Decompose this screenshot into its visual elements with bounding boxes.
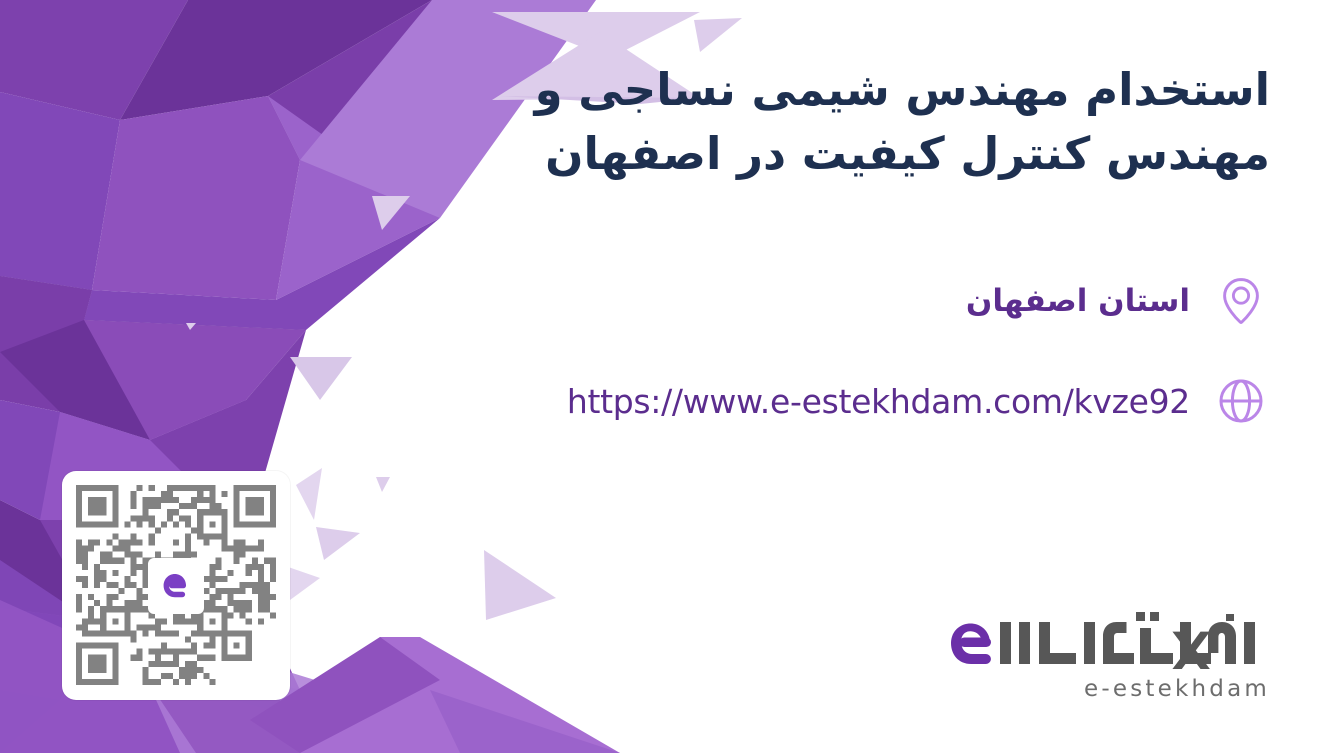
brand-subtitle: e-estekhdam [940,676,1270,702]
location-row: استان اصفهان [966,272,1270,330]
page-title: استخدام مهندس شیمی نساجی و مهندس کنترل ک… [410,58,1270,186]
brand-logo: e-estekhdam [940,612,1270,702]
brand-wordmark [940,612,1270,674]
globe-icon [1212,372,1270,430]
qr-code[interactable] [62,471,290,700]
map-pin-icon [1212,272,1270,330]
website-row: https://www.e-estekhdam.com/kvze92 [567,372,1270,430]
qr-center-logo [148,558,204,614]
location-label: استان اصفهان [966,283,1190,319]
job-announcement-card: استخدام مهندس شیمی نساجی و مهندس کنترل ک… [0,0,1340,753]
website-url[interactable]: https://www.e-estekhdam.com/kvze92 [567,382,1190,421]
